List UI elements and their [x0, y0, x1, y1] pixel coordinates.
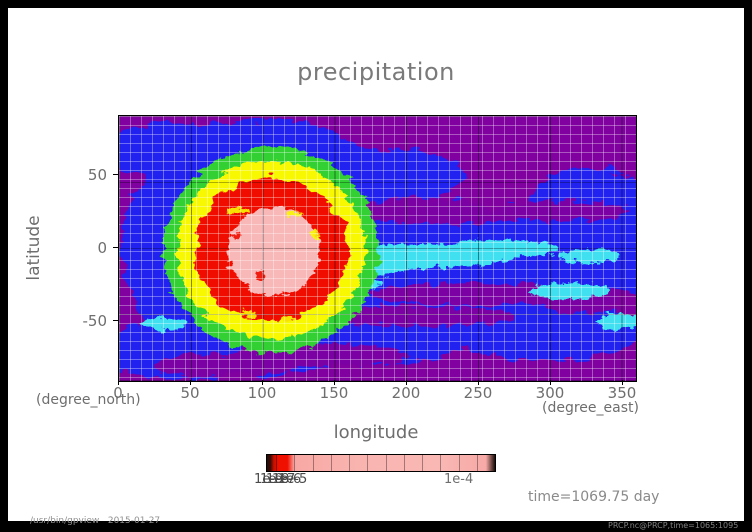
x-tick-label: 150	[304, 384, 364, 402]
footer-source: PRCP.nc@PRCP,time=1065:1095	[608, 521, 738, 530]
footer-command: /usr/bin/gpview 2015-01-27	[30, 516, 160, 526]
time-annotation: time=1069.75 day	[528, 489, 659, 505]
gpview-window: precipitation	[0, 0, 752, 532]
colorbar-label-max: 1e-4	[444, 472, 473, 487]
y-tick	[113, 247, 118, 248]
x-axis-unit-label: (degree_east)	[542, 400, 639, 416]
x-tick-label: 200	[376, 384, 436, 402]
colorbar-ticks	[267, 455, 495, 471]
y-tick-label: 0	[63, 239, 107, 257]
x-tick-label: 100	[232, 384, 292, 402]
y-axis-unit-label: (degree_north)	[36, 392, 141, 408]
contour-plot-area[interactable]	[118, 115, 637, 382]
precipitation-field	[119, 116, 636, 381]
y-tick-label: -50	[63, 312, 107, 330]
y-tick-label: 50	[63, 166, 107, 184]
plot-canvas: precipitation	[8, 8, 744, 521]
y-tick	[113, 320, 118, 321]
x-tick-label: 250	[448, 384, 508, 402]
colorbar[interactable]	[266, 454, 496, 472]
colorbar-label-overlap-4: 1e-5	[278, 472, 307, 487]
x-tick-label: 50	[160, 384, 220, 402]
page-title: precipitation	[8, 58, 744, 86]
y-tick	[113, 174, 118, 175]
x-axis-label: longitude	[8, 422, 744, 443]
y-axis-label: latitude	[24, 178, 44, 318]
